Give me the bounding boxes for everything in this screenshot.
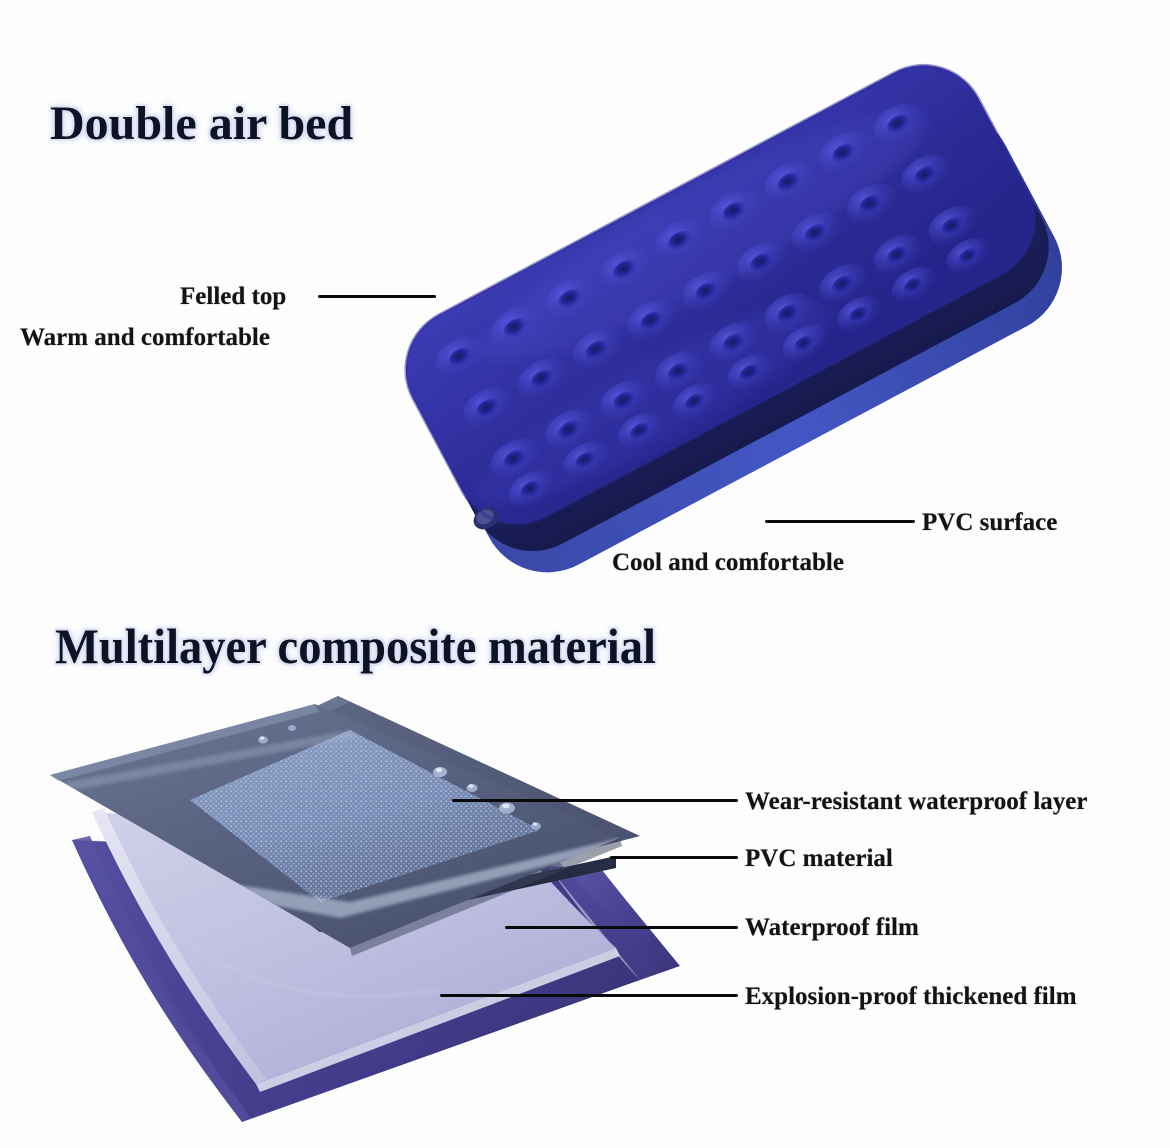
air-mattress-svg: [330, 30, 1130, 630]
infographic-canvas: Double air bed: [0, 0, 1170, 1148]
multilayer-material-illustration: [20, 680, 740, 1130]
leader-line-wear-resistant-waterproof-layer: [452, 799, 738, 802]
leader-line-pvc-surface: [765, 520, 915, 523]
leader-line-felled-top: [318, 295, 436, 298]
callout-label-warm-and-comfortable: Warm and comfortable: [20, 324, 270, 352]
leader-line-waterproof-film: [505, 926, 738, 929]
callout-label-waterproof-film: Waterproof film: [745, 914, 919, 942]
section-title-multilayer-composite-material: Multilayer composite material: [55, 617, 656, 675]
air-mattress-illustration: [330, 30, 1130, 630]
page-title-double-air-bed: Double air bed: [50, 96, 353, 151]
leader-line-pvc-material: [610, 856, 738, 859]
callout-label-wear-resistant-waterproof-layer: Wear-resistant waterproof layer: [745, 788, 1088, 816]
callout-label-pvc-surface: PVC surface: [922, 509, 1057, 537]
callout-label-cool-and-comfortable: Cool and comfortable: [612, 549, 844, 577]
leader-line-explosion-proof-thickened-film: [440, 994, 738, 997]
callout-label-felled-top: Felled top: [180, 283, 286, 311]
multilayer-svg: [20, 680, 740, 1130]
callout-label-explosion-proof-thickened-film: Explosion-proof thickened film: [745, 983, 1077, 1011]
callout-label-pvc-material: PVC material: [745, 845, 893, 873]
